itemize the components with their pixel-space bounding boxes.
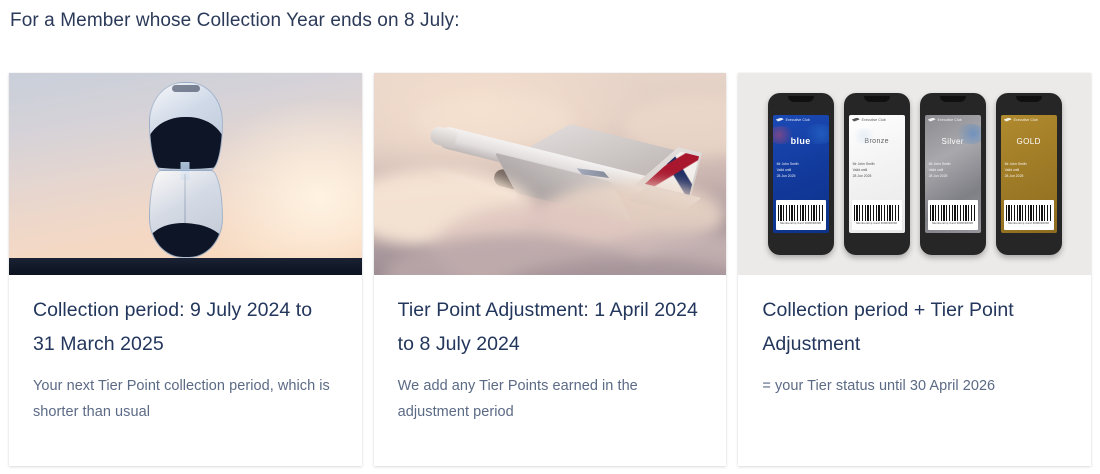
phones-scene: Executive Club blue Mr John Smith Valid … bbox=[738, 73, 1091, 275]
hourglass-sunset-image bbox=[9, 73, 362, 275]
valid-until-value: 28 Jun 2025 bbox=[777, 173, 825, 179]
barcode-caption: Membership Card 0000000000 bbox=[780, 222, 821, 225]
speedmarque-icon bbox=[928, 118, 936, 122]
brand-lockup: Executive Club bbox=[852, 118, 886, 122]
tier-card-combined-result[interactable]: Executive Club blue Mr John Smith Valid … bbox=[738, 73, 1091, 466]
barcode-caption: Membership Card 0000000000 bbox=[856, 222, 897, 225]
hourglass-cap bbox=[172, 85, 200, 92]
hourglass-bottom-bulb bbox=[149, 170, 223, 258]
barcode: Membership Card 0000000000 bbox=[928, 200, 978, 230]
brand-lockup: Executive Club bbox=[1004, 118, 1038, 122]
barcode-bars bbox=[778, 205, 824, 221]
phone-notch bbox=[940, 96, 966, 102]
phone-gold-card: Executive Club GOLD Mr John Smith Valid … bbox=[996, 93, 1062, 255]
brand-lockup: Executive Club bbox=[776, 118, 810, 122]
tier-card-tier-point-adjustment[interactable]: Tier Point Adjustment: 1 April 2024 to 8… bbox=[374, 73, 727, 466]
aircraft-above-clouds-image bbox=[374, 73, 727, 275]
barcode-bars bbox=[930, 205, 976, 221]
brand-lockup: Executive Club bbox=[928, 118, 962, 122]
card-meta: Mr John Smith Valid until 28 Jun 2025 bbox=[1001, 158, 1057, 198]
card-meta: Mr John Smith Valid until 28 Jun 2025 bbox=[773, 158, 829, 198]
speedmarque-icon bbox=[776, 118, 784, 122]
barcode: Membership Card 0000000000 bbox=[776, 200, 826, 230]
phone-bronze-card: Executive Club Bronze Mr John Smith Vali… bbox=[844, 93, 910, 255]
tier-info-page: For a Member whose Collection Year ends … bbox=[0, 0, 1100, 474]
barcode-bars bbox=[1006, 205, 1052, 221]
card-body: Collection period + Tier Point Adjustmen… bbox=[738, 275, 1091, 466]
membership-card-blue: Executive Club blue Mr John Smith Valid … bbox=[773, 115, 829, 233]
brand-name: Executive Club bbox=[938, 118, 962, 122]
barcode: Membership Card 0000000000 bbox=[1004, 200, 1054, 230]
card-title: Tier Point Adjustment: 1 April 2024 to 8… bbox=[398, 293, 703, 361]
hourglass-top-bulb bbox=[149, 82, 223, 170]
card-body: Tier Point Adjustment: 1 April 2024 to 8… bbox=[374, 275, 727, 466]
sky-scene bbox=[374, 73, 727, 275]
phone-notch bbox=[864, 96, 890, 102]
card-title: Collection period + Tier Point Adjustmen… bbox=[762, 293, 1067, 361]
barcode-caption: Membership Card 0000000000 bbox=[932, 222, 973, 225]
tier-cards-row: Collection period: 9 July 2024 to 31 Mar… bbox=[9, 73, 1091, 467]
barcode: Membership Card 0000000000 bbox=[852, 200, 902, 230]
barcode-caption: Membership Card 0000000000 bbox=[1008, 222, 1049, 225]
tier-name: Silver bbox=[925, 124, 981, 158]
hourglass-scene bbox=[9, 73, 362, 275]
card-header: Executive Club bbox=[925, 115, 981, 124]
membership-cards-phones-image: Executive Club blue Mr John Smith Valid … bbox=[738, 73, 1091, 275]
tier-name: Bronze bbox=[849, 124, 905, 158]
membership-card-silver: Executive Club Silver Mr John Smith Vali… bbox=[925, 115, 981, 233]
membership-card-gold: Executive Club GOLD Mr John Smith Valid … bbox=[1001, 115, 1057, 233]
valid-until-value: 28 Jun 2025 bbox=[853, 173, 901, 179]
swirl-decoration bbox=[851, 128, 877, 144]
phone-silver-card: Executive Club Silver Mr John Smith Vali… bbox=[920, 93, 986, 255]
card-description: We add any Tier Points earned in the adj… bbox=[398, 373, 703, 425]
brand-name: Executive Club bbox=[786, 118, 810, 122]
hourglass-icon bbox=[149, 82, 221, 258]
card-title: Collection period: 9 July 2024 to 31 Mar… bbox=[33, 293, 338, 361]
hourglass-sand-bottom bbox=[149, 223, 223, 257]
valid-until-value: 28 Jun 2025 bbox=[929, 173, 977, 179]
card-meta: Mr John Smith Valid until 28 Jun 2025 bbox=[849, 158, 905, 198]
tier-card-collection-period[interactable]: Collection period: 9 July 2024 to 31 Mar… bbox=[9, 73, 362, 466]
valid-until-value: 28 Jun 2025 bbox=[1005, 173, 1053, 179]
dark-surface bbox=[9, 258, 362, 275]
card-header: Executive Club bbox=[849, 115, 905, 124]
card-header: Executive Club bbox=[773, 115, 829, 124]
phone-notch bbox=[788, 96, 814, 102]
card-description: Your next Tier Point collection period, … bbox=[33, 373, 338, 425]
barcode-bars bbox=[854, 205, 900, 221]
phone-notch bbox=[1016, 96, 1042, 102]
speedmarque-icon bbox=[1004, 118, 1012, 122]
tier-name: GOLD bbox=[1001, 124, 1057, 158]
membership-card-bronze: Executive Club Bronze Mr John Smith Vali… bbox=[849, 115, 905, 233]
brand-name: Executive Club bbox=[1014, 118, 1038, 122]
brand-name: Executive Club bbox=[862, 118, 886, 122]
card-body: Collection period: 9 July 2024 to 31 Mar… bbox=[9, 275, 362, 466]
tier-label: GOLD bbox=[1017, 137, 1041, 146]
tier-name: blue bbox=[773, 124, 829, 158]
speedmarque-icon bbox=[852, 118, 860, 122]
card-meta: Mr John Smith Valid until 28 Jun 2025 bbox=[925, 158, 981, 198]
phone-blue-card: Executive Club blue Mr John Smith Valid … bbox=[768, 93, 834, 255]
card-header: Executive Club bbox=[1001, 115, 1057, 124]
page-title: For a Member whose Collection Year ends … bbox=[10, 8, 460, 34]
card-description: = your Tier status until 30 April 2026 bbox=[762, 373, 1067, 399]
